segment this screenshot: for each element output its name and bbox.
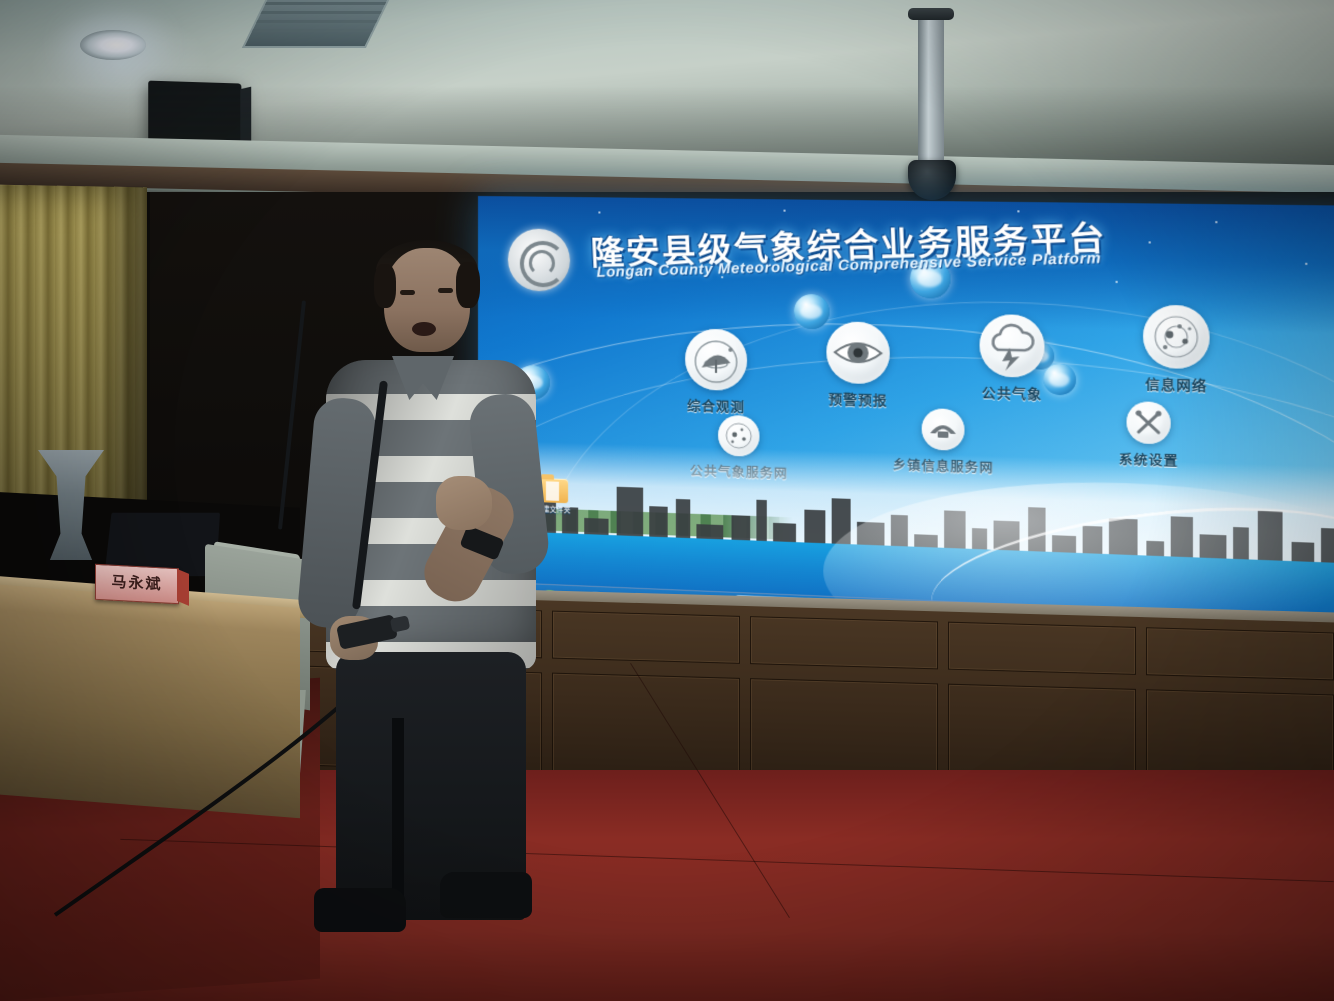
raised-fist [436, 476, 492, 530]
boot-right [440, 872, 532, 918]
name-plate: 马永斌 [95, 564, 179, 604]
module-yujing-yubao[interactable]: 预警预报 [802, 321, 914, 410]
ceiling-downlight-icon [80, 30, 146, 60]
wood-panel [750, 678, 938, 783]
radar-dish-icon [685, 328, 747, 391]
eye-left [400, 290, 415, 295]
hair-side-right [456, 262, 480, 308]
module-zonghe-guance[interactable]: 综合观测 [662, 328, 771, 416]
presenter [300, 248, 600, 948]
wood-panel [948, 622, 1136, 675]
module-label: 信息网络 [1118, 372, 1236, 395]
wood-panel [1146, 627, 1334, 680]
boot-left [314, 888, 406, 932]
tools-icon [1127, 401, 1171, 444]
screenshot-root: 隆安县级气象综合业务服务平台 Longan County Meteorologi… [0, 0, 1334, 1001]
name-plate-text: 马永斌 [96, 565, 178, 603]
led-presentation-screen[interactable]: 隆安县级气象综合业务服务平台 Longan County Meteorologi… [478, 196, 1334, 657]
globe-icon-5 [1043, 363, 1076, 395]
home-icon [922, 408, 965, 451]
camera-mount-pole [918, 14, 944, 174]
network-nodes-icon [1143, 305, 1210, 370]
hair-side-left [374, 264, 396, 308]
eye-icon [826, 321, 889, 384]
module-xinxi-wangluo[interactable]: 信息网络 [1118, 304, 1236, 395]
camera-ceiling-plate [908, 8, 954, 20]
cloud-lightning-icon [980, 314, 1045, 378]
wood-panel [750, 616, 938, 669]
eye-right [438, 288, 453, 293]
mouth [412, 322, 436, 336]
